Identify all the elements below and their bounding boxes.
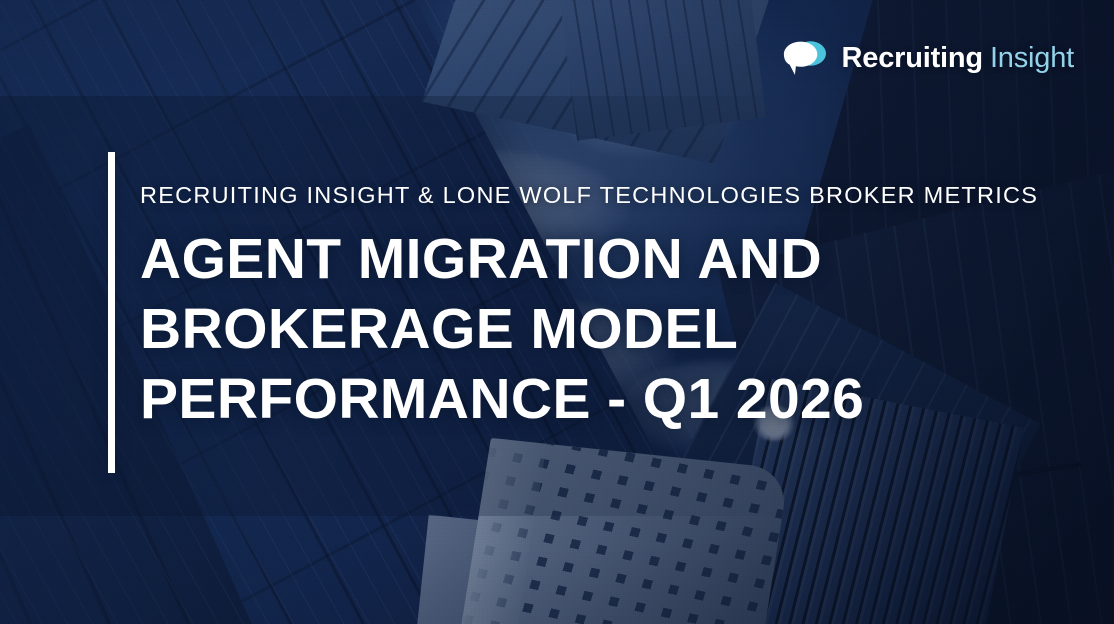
title-line-2: BROKERAGE MODEL (140, 294, 1040, 364)
report-cover-slide: RecruitingInsight RECRUITING INSIGHT & L… (0, 0, 1114, 624)
title-line-1: AGENT MIGRATION AND (140, 224, 1040, 294)
accent-bar (108, 152, 115, 473)
brand-name-secondary: Insight (990, 42, 1074, 74)
cover-content: RecruitingInsight RECRUITING INSIGHT & L… (0, 0, 1114, 624)
headline-block: RECRUITING INSIGHT & LONE WOLF TECHNOLOG… (140, 182, 1040, 434)
brand-logo[interactable]: RecruitingInsight (781, 38, 1074, 78)
speech-bubbles-icon (781, 38, 829, 78)
brand-name-primary: Recruiting (842, 42, 983, 74)
brand-wordmark: RecruitingInsight (842, 44, 1074, 73)
kicker-text: RECRUITING INSIGHT & LONE WOLF TECHNOLOG… (140, 182, 1040, 208)
page-title: AGENT MIGRATION AND BROKERAGE MODEL PERF… (140, 224, 1040, 434)
title-line-3: PERFORMANCE - Q1 2026 (140, 364, 1040, 434)
